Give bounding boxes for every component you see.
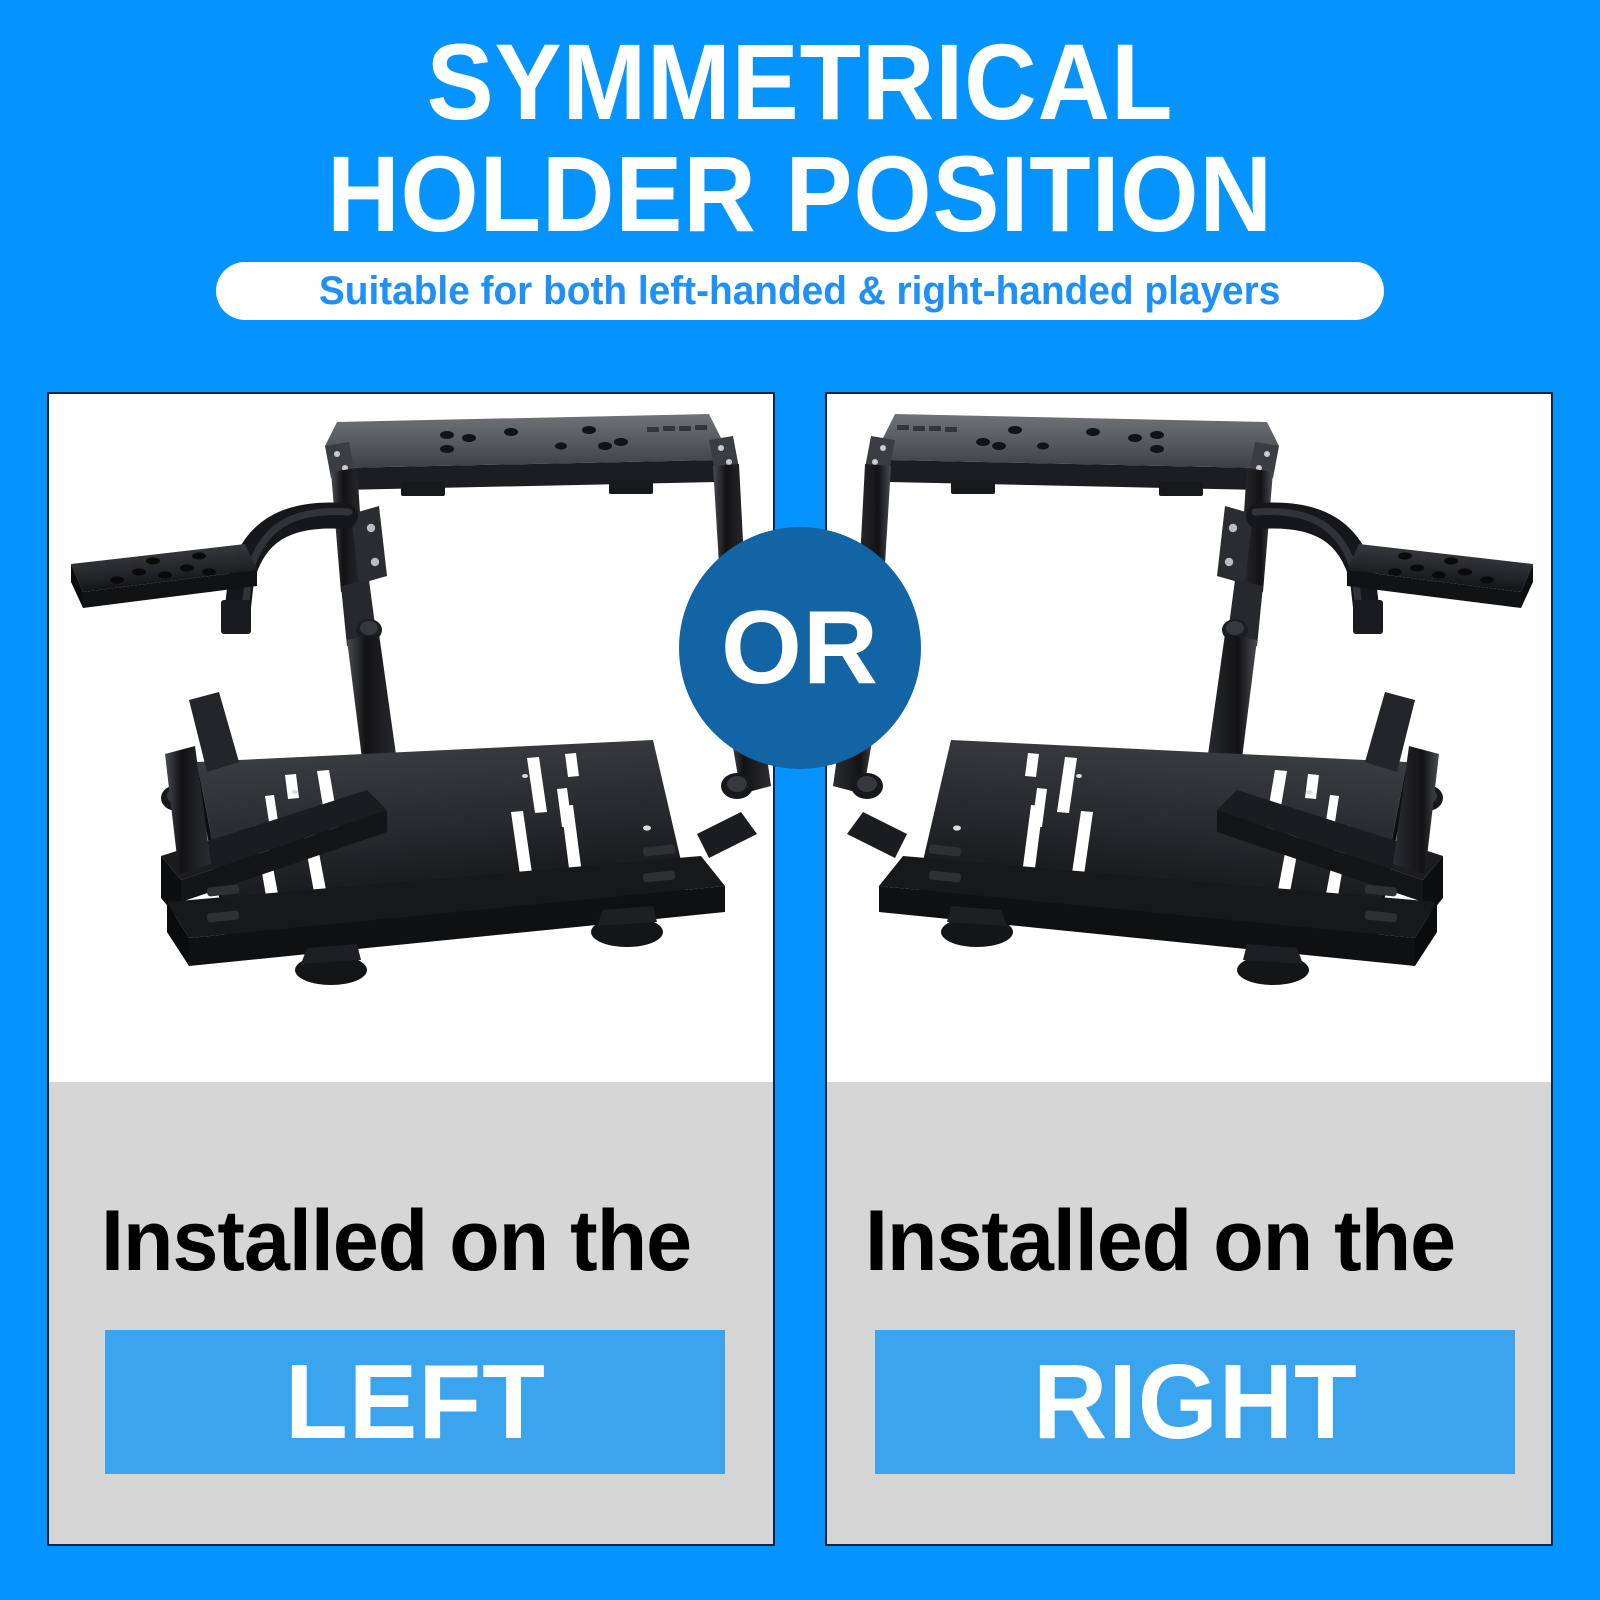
caption-area-left: Installed on the LEFT: [49, 1082, 773, 1544]
caption-area-right: Installed on the RIGHT: [827, 1082, 1551, 1544]
header-banner: SYMMETRICAL HOLDER POSITION Suitable for…: [0, 0, 1600, 392]
product-photo-right: [827, 394, 1551, 1082]
panel-right: Installed on the RIGHT: [825, 392, 1553, 1546]
product-photo-left: [49, 394, 773, 1082]
panel-left: Installed on the LEFT: [47, 392, 775, 1546]
wheel-stand-svg-mirrored: [827, 394, 1551, 1082]
or-divider-badge: OR: [679, 527, 921, 769]
side-badge-left: LEFT: [105, 1330, 725, 1474]
subtitle-pill: Suitable for both left-handed & right-ha…: [216, 262, 1384, 320]
side-word-right: RIGHT: [1033, 1349, 1358, 1455]
subtitle-text: Suitable for both left-handed & right-ha…: [319, 269, 1280, 314]
page-title: SYMMETRICAL HOLDER POSITION: [0, 26, 1600, 250]
side-word-left: LEFT: [285, 1349, 546, 1455]
or-label: OR: [721, 596, 879, 700]
title-line-1: SYMMETRICAL: [56, 26, 1544, 138]
side-badge-right: RIGHT: [875, 1330, 1515, 1474]
title-line-2: HOLDER POSITION: [56, 138, 1544, 250]
caption-prefix-right: Installed on the: [865, 1198, 1455, 1284]
wheel-stand-illustration-right: [827, 394, 1551, 1082]
wheel-stand-svg: [49, 394, 773, 1082]
caption-prefix-left: Installed on the: [101, 1198, 691, 1284]
wheel-deck-plate: [325, 414, 739, 496]
wheel-stand-illustration-left: [49, 394, 773, 1082]
